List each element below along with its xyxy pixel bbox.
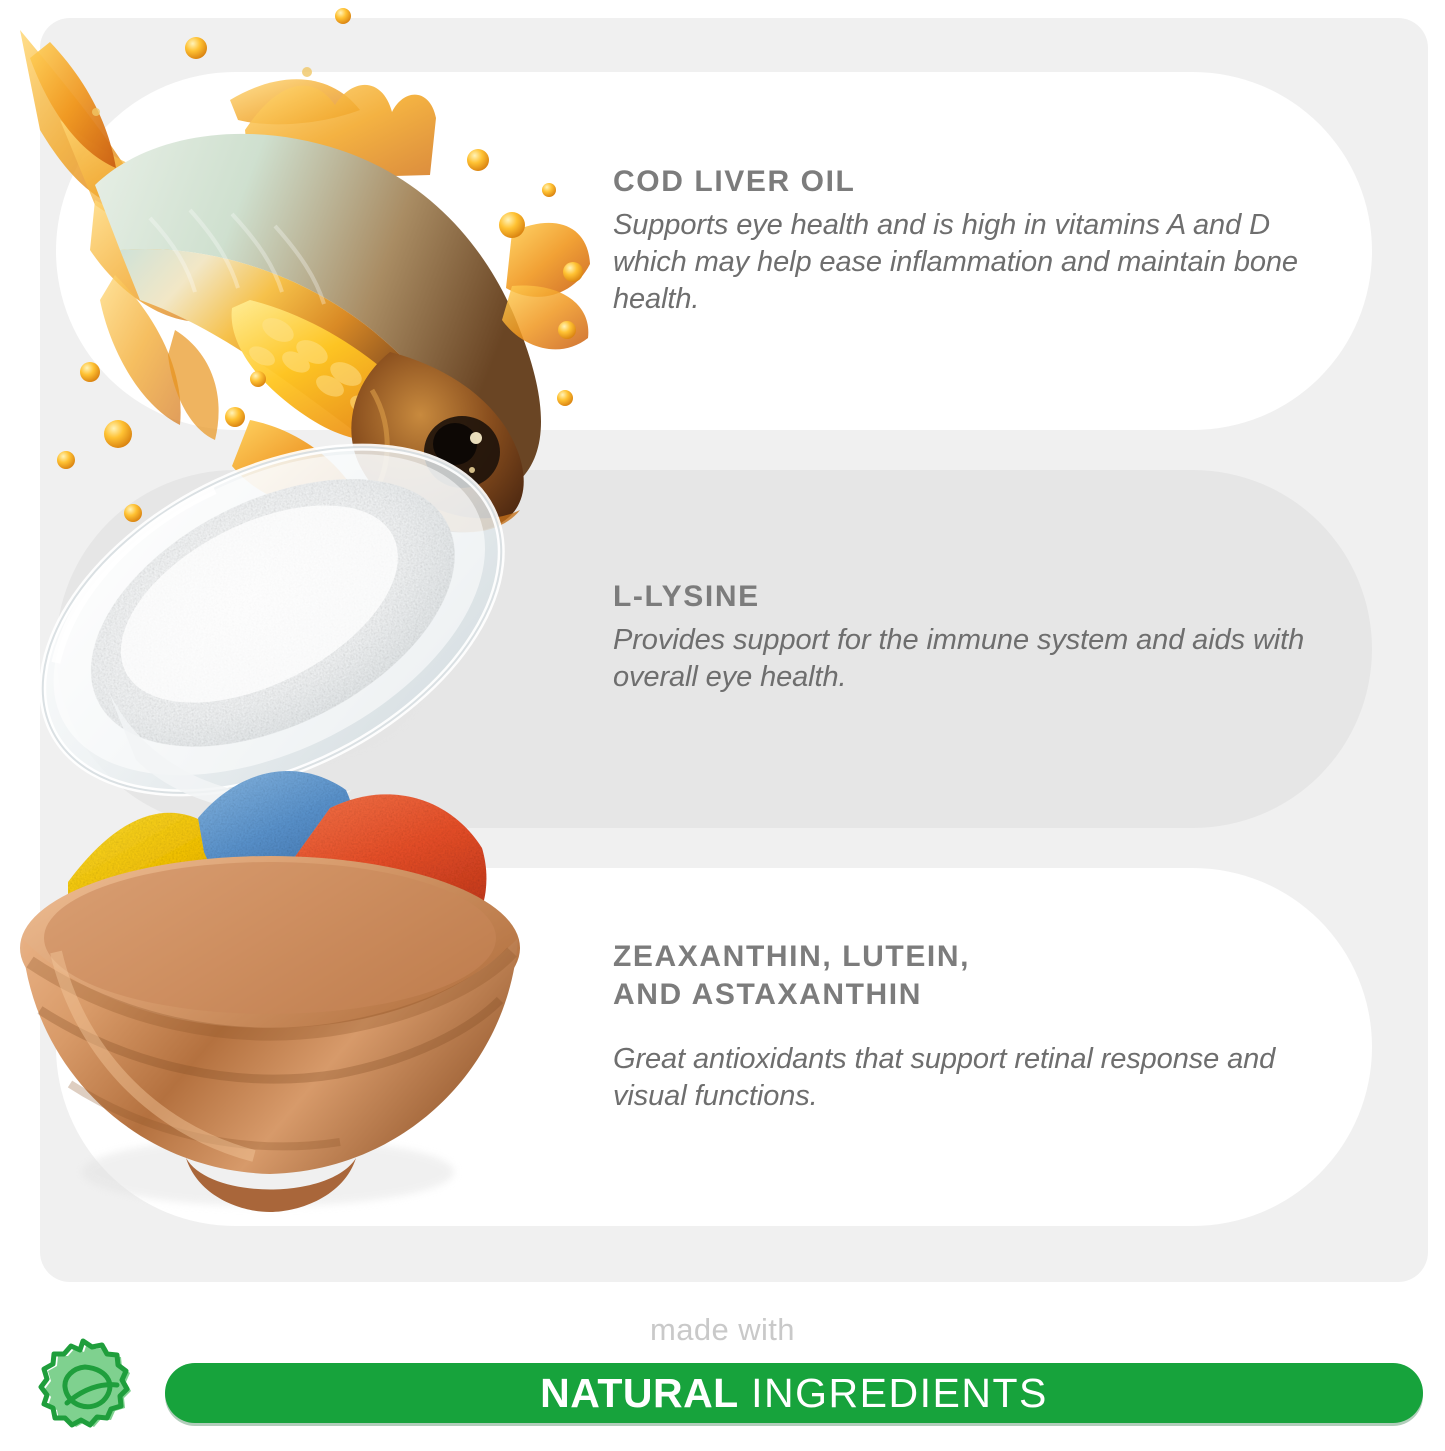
banner-text: NATURAL INGREDIENTS — [540, 1373, 1048, 1414]
ingredient-description: Provides support for the immune system a… — [613, 622, 1333, 696]
natural-ingredients-banner: NATURAL INGREDIENTS — [165, 1363, 1423, 1423]
ingredient-description: Supports eye health and is high in vitam… — [613, 207, 1333, 317]
banner-light-word: INGREDIENTS — [751, 1370, 1048, 1416]
card-text-l-lysine: L-LYSINE Provides support for the immune… — [613, 578, 1333, 696]
banner-bold-word: NATURAL — [540, 1370, 739, 1416]
ingredient-title: L-LYSINE — [613, 578, 1333, 616]
card-text-zeaxanthin-lutein-astaxanthin: ZEAXANTHIN, LUTEIN, AND ASTAXANTHIN Grea… — [613, 938, 1333, 1114]
ingredient-title: COD LIVER OIL — [613, 163, 1333, 201]
made-with-label: made with — [0, 1312, 1445, 1348]
ingredient-description: Great antioxidants that support retinal … — [613, 1041, 1333, 1115]
ingredient-title: ZEAXANTHIN, LUTEIN, AND ASTAXANTHIN — [613, 938, 1333, 1015]
leaf-rosette-icon — [28, 1333, 146, 1445]
card-text-cod-liver-oil: COD LIVER OIL Supports eye health and is… — [613, 163, 1333, 318]
